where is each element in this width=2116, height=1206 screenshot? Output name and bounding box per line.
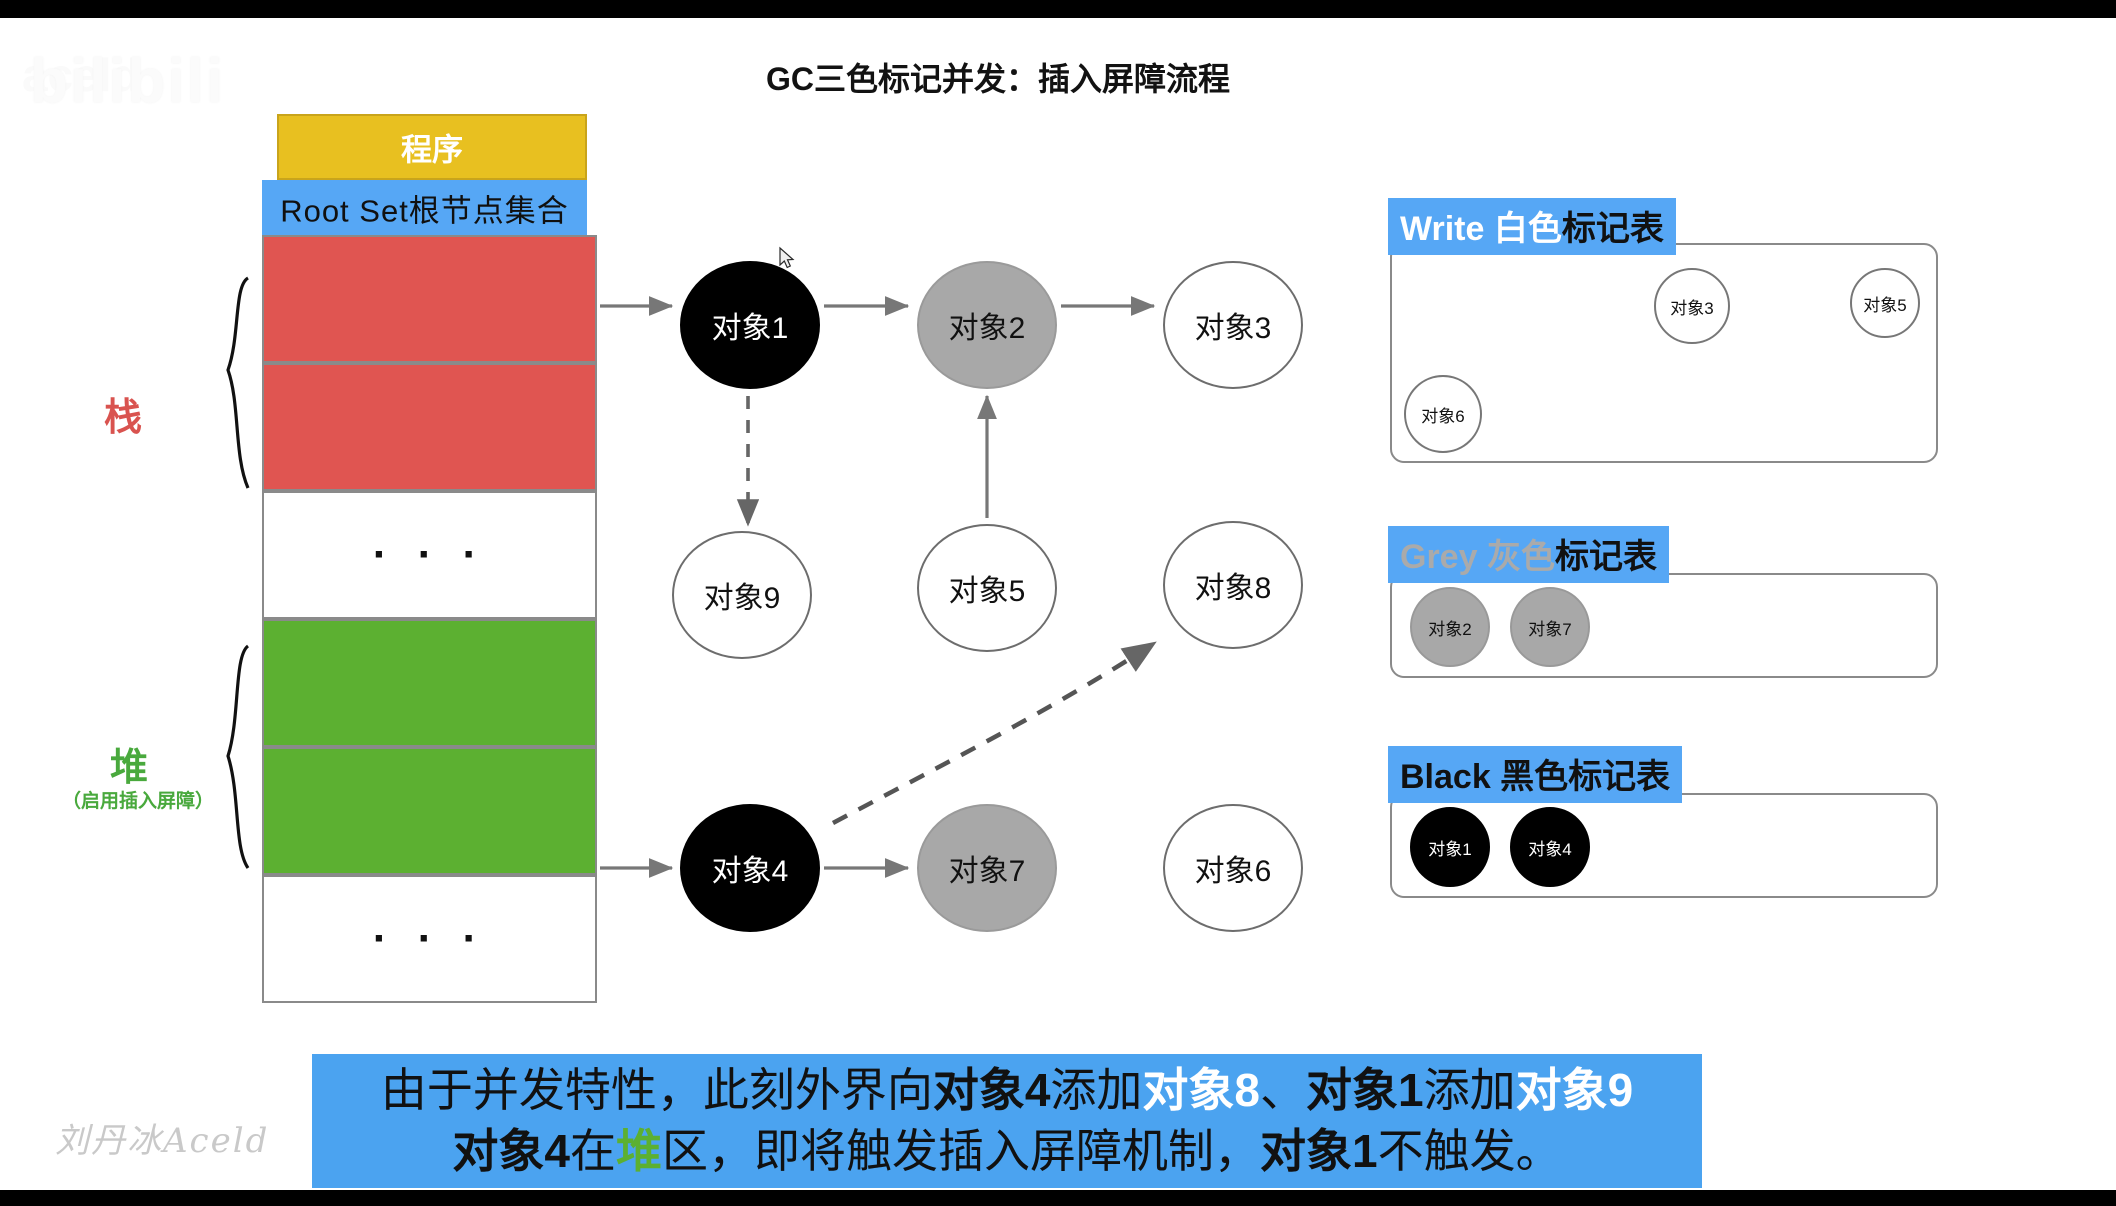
black-marker-table-header-main: Black 黑色 [1400,758,1568,796]
caption-banner: 由于并发特性，此刻外界向对象4添加对象8、对象1添加对象9 对象4在堆区，即将触… [312,1054,1702,1188]
page-title: GC三色标记并发：插入屏障流程 [766,54,1230,100]
graph-node-obj4[interactable]: 对象4 [680,804,820,932]
caption-l2-p1: 在 [570,1125,616,1177]
graph-node-obj8-label: 对象8 [1195,563,1272,607]
graph-node-obj9[interactable]: 对象9 [672,531,812,659]
grey-marker-table-header: Grey 灰色标记表 [1388,526,1669,583]
graph-node-obj1[interactable]: 对象1 [680,261,820,389]
caption-l1-p2: 添加 [1050,1064,1142,1116]
grey-table-item-obj7-label: 对象7 [1528,615,1571,640]
heap-brace [228,646,248,868]
caption-l1-obj1: 对象1 [1306,1064,1424,1116]
white-table-item-obj6-label: 对象6 [1421,402,1464,427]
letterbox-bottom [0,1190,2116,1206]
memory-block-program: 程序 [277,114,587,180]
caption-l1-obj9: 对象9 [1516,1064,1634,1116]
slide-canvas: aceld bilibili 刘丹冰Aceld GC三色标记并发：插入屏障流程 … [0,18,2116,1190]
white-marker-table-header-main: Write 白色 [1400,210,1562,248]
graph-node-obj2[interactable]: 对象2 [917,261,1057,389]
memory-block-rootset-label: Root Set根节点集合 [264,185,585,230]
caption-l1-p1: 由于并发特性，此刻外界向 [381,1064,933,1116]
white-table-item-obj6[interactable]: 对象6 [1404,375,1482,453]
memory-block-program-label: 程序 [279,125,585,170]
black-table-item-obj1-label: 对象1 [1428,835,1471,860]
black-table-item-obj1[interactable]: 对象1 [1410,807,1490,887]
grey-table-item-obj7[interactable]: 对象7 [1510,587,1590,667]
graph-node-obj6-label: 对象6 [1195,846,1272,890]
memory-block-heap-slot-2 [262,747,597,875]
screen: aceld bilibili 刘丹冰Aceld GC三色标记并发：插入屏障流程 … [0,0,2116,1206]
caption-l2-heap: 堆 [616,1125,662,1177]
graph-node-obj6[interactable]: 对象6 [1163,804,1303,932]
grey-marker-table-header-main: Grey 灰色 [1400,538,1555,576]
grey-marker-table-header-tail: 标记表 [1555,538,1657,576]
graph-node-obj1-label: 对象1 [712,303,789,347]
black-marker-table-box: 对象1 对象4 [1390,793,1938,898]
grey-table-item-obj2[interactable]: 对象2 [1410,587,1490,667]
white-table-item-obj5[interactable]: 对象5 [1850,268,1920,338]
edge-obj4-obj8 [833,644,1153,823]
letterbox-top [0,0,2116,18]
graph-node-obj7[interactable]: 对象7 [917,804,1057,932]
caption-l2-obj1: 对象1 [1260,1125,1378,1177]
caption-l2-p2: 区，即将触发插入屏障机制， [662,1125,1260,1177]
stack-brace [228,278,248,488]
memory-block-stack-gap: · · · [262,491,597,619]
heap-region-label: 堆 [110,736,148,791]
graph-node-obj3-label: 对象3 [1195,303,1272,347]
memory-block-rootset: Root Set根节点集合 [262,180,587,235]
black-table-item-obj4-label: 对象4 [1528,835,1571,860]
white-table-item-obj5-label: 对象5 [1863,291,1906,316]
bilibili-watermark: bilibili [30,46,225,117]
graph-node-obj7-label: 对象7 [949,846,1026,890]
caption-l1-p4: 添加 [1424,1064,1516,1116]
memory-block-heap-slot-1 [262,619,597,747]
graph-node-obj5-label: 对象5 [949,566,1026,610]
caption-l2-obj4: 对象4 [452,1125,570,1177]
grey-marker-table-box: 对象2 对象7 [1390,573,1938,678]
memory-block-stack-slot-1 [262,235,597,363]
caption-l2-p3: 不触发。 [1378,1125,1562,1177]
white-marker-table-header: Write 白色标记表 [1388,198,1676,255]
memory-block-heap-gap-ellipsis: · · · [264,917,595,961]
graph-node-obj4-label: 对象4 [712,846,789,890]
graph-node-obj2-label: 对象2 [949,303,1026,347]
author-signature-watermark: 刘丹冰Aceld [55,1113,269,1162]
grey-table-item-obj2-label: 对象2 [1428,615,1471,640]
graph-node-obj5[interactable]: 对象5 [917,524,1057,652]
caption-l1-p3: 、 [1260,1064,1306,1116]
black-marker-table-header: Black 黑色标记表 [1388,746,1682,803]
white-marker-table-header-tail: 标记表 [1562,210,1664,248]
memory-block-heap-gap: · · · [262,875,597,1003]
graph-node-obj9-label: 对象9 [704,573,781,617]
white-table-item-obj3[interactable]: 对象3 [1654,268,1730,344]
white-table-item-obj3-label: 对象3 [1670,294,1713,319]
graph-node-obj8[interactable]: 对象8 [1163,521,1303,649]
caption-l1-obj8: 对象8 [1142,1064,1260,1116]
graph-node-obj3[interactable]: 对象3 [1163,261,1303,389]
heap-region-sublabel: （启用插入屏障） [62,786,214,813]
black-marker-table-header-tail: 标记表 [1568,758,1670,796]
memory-block-stack-slot-2 [262,363,597,491]
mouse-cursor [780,248,793,268]
stack-region-label: 栈 [104,386,142,441]
black-table-item-obj4[interactable]: 对象4 [1510,807,1590,887]
caption-line-2: 对象4在堆区，即将触发插入屏障机制，对象1不触发。 [452,1121,1561,1182]
memory-block-stack-gap-ellipsis: · · · [264,533,595,577]
white-marker-table-box: 对象3 对象5 对象6 [1390,243,1938,463]
caption-l1-obj4: 对象4 [933,1064,1051,1116]
caption-line-1: 由于并发特性，此刻外界向对象4添加对象8、对象1添加对象9 [381,1060,1633,1121]
